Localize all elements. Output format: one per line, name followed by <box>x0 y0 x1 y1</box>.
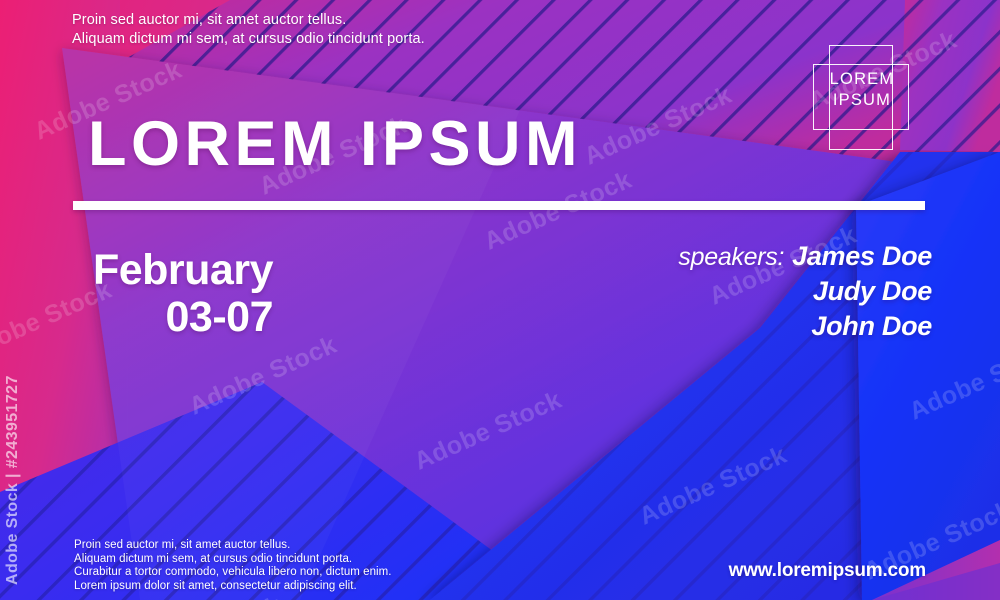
watermark-tile: Adobe Stock <box>410 386 566 477</box>
page-title: LOREM IPSUM <box>88 112 582 176</box>
speakers-label: speakers: <box>678 243 784 271</box>
logo-mark: LOREM IPSUM <box>808 40 916 162</box>
event-date: February 03-07 <box>88 247 273 341</box>
watermark-tile: Adobe Stock <box>635 441 791 532</box>
footer-description: Proin sed auctor mi, sit amet auctor tel… <box>74 539 392 593</box>
top-description: Proin sed auctor mi, sit amet auctor tel… <box>72 11 425 49</box>
speaker-name-1: James Doe <box>792 241 932 271</box>
title-divider-rule <box>73 201 925 210</box>
speaker-name-2: Judy Doe <box>813 276 932 306</box>
watermark-tile: Adobe Stock <box>905 336 1000 427</box>
poster-canvas: Adobe Stock Adobe Stock Adobe Stock Adob… <box>0 0 1000 600</box>
logo-text-line1: LOREM <box>830 70 895 88</box>
logo-text: LOREM IPSUM <box>808 69 916 111</box>
website-url[interactable]: www.loremipsum.com <box>729 560 926 582</box>
logo-text-line2: IPSUM <box>833 91 891 109</box>
speaker-name-3: John Doe <box>811 311 932 341</box>
speakers-block: speakers:James Doe Judy Doe John Doe <box>560 241 932 346</box>
watermark-tile: Adobe Stock <box>185 331 341 422</box>
speaker-row-1: speakers:James Doe <box>560 241 932 276</box>
speaker-row-3: John Doe <box>560 311 932 346</box>
event-date-range: 03-07 <box>166 293 273 341</box>
speaker-row-2: Judy Doe <box>560 276 932 311</box>
event-date-month: February <box>93 246 273 294</box>
watermark-tile: Adobe Stock <box>580 81 736 172</box>
